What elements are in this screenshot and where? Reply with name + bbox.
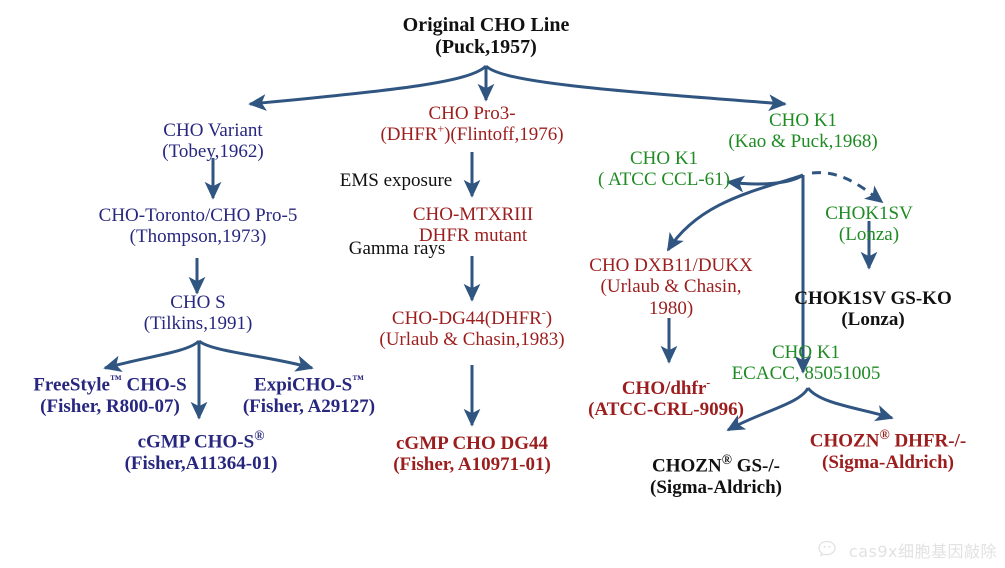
node-cho-pro3-line2: (DHFR+)(Flintoff,1976)	[348, 124, 596, 145]
node-cgmp-cho-dg44-line2: (Fisher, A10971-01)	[358, 454, 586, 475]
cho-cell-line-lineage-diagram: Original CHO Line (Puck,1957) CHO Varian…	[0, 0, 1005, 568]
node-freestyle-cho-s-line2: (Fisher, R800-07)	[6, 396, 214, 417]
node-chok1sv-gs-ko-line1: CHOK1SV GS-KO	[768, 288, 978, 309]
node-cgmp-cho-s: cGMP CHO-S® (Fisher,A11364-01)	[90, 428, 312, 474]
node-expicho-s-line2: (Fisher, A29127)	[218, 396, 400, 417]
node-cho-variant-line2: (Tobey,1962)	[133, 141, 293, 162]
node-chozn-dhfr-line2: (Sigma-Aldrich)	[775, 452, 1001, 473]
arrow-k1-to-chok1sv-dashed	[812, 173, 882, 202]
node-original-cho-line-line1: Original CHO Line	[380, 14, 592, 36]
node-original-cho-line: Original CHO Line (Puck,1957)	[380, 14, 592, 59]
node-cho-mtxriii-line1: CHO-MTXRIII	[379, 204, 567, 225]
node-cho-k1-kao-puck: CHO K1 (Kao & Puck,1968)	[698, 110, 908, 153]
node-cho-toronto-pro5-line2: (Thompson,1973)	[57, 226, 339, 247]
wechat-icon	[818, 540, 842, 560]
arrow-chos-to-freestyle	[105, 341, 199, 368]
node-cho-k1-ecacc-line2: ECACC, 85051005	[694, 363, 918, 384]
node-chok1sv-line2: (Lonza)	[812, 224, 926, 245]
node-cho-k1-ecacc: CHO K1 ECACC, 85051005	[694, 342, 918, 385]
node-cho-dhfr-line2: (ATCC-CRL-9096)	[555, 399, 777, 420]
node-cho-variant-line1: CHO Variant	[133, 120, 293, 141]
node-cho-s-line2: (Tilkins,1991)	[119, 313, 277, 334]
node-freestyle-cho-s-line1: FreeStyle™ CHO-S	[6, 373, 214, 396]
arrow-chos-to-expicho	[199, 341, 312, 368]
node-cho-dxb11-dukx-line1: CHO DXB11/DUKX	[560, 255, 782, 276]
arrow-ecacc-to-chozn-dhfr	[808, 388, 892, 418]
watermark: cas9x细胞基因敲除	[818, 538, 997, 562]
node-chozn-dhfr-line1: CHOZN® DHFR-/-	[775, 427, 1001, 452]
node-cho-pro3-line1: CHO Pro3-	[348, 103, 596, 124]
node-cho-dg44-line2: (Urlaub & Chasin,1983)	[346, 329, 598, 350]
node-cho-s: CHO S (Tilkins,1991)	[119, 292, 277, 335]
node-original-cho-line-line2: (Puck,1957)	[380, 36, 592, 58]
node-cgmp-cho-dg44: cGMP CHO DG44 (Fisher, A10971-01)	[358, 433, 586, 476]
node-chozn-gs-line2: (Sigma-Aldrich)	[617, 477, 815, 498]
node-cgmp-cho-dg44-line1: cGMP CHO DG44	[358, 433, 586, 454]
node-cho-k1-kao-puck-line1: CHO K1	[698, 110, 908, 131]
node-chozn-dhfr: CHOZN® DHFR-/- (Sigma-Aldrich)	[775, 427, 1001, 473]
node-cho-toronto-pro5-line1: CHO-Toronto/CHO Pro-5	[57, 205, 339, 226]
node-cho-k1-atcc-line1: CHO K1	[588, 148, 740, 169]
node-cgmp-cho-s-line2: (Fisher,A11364-01)	[90, 453, 312, 474]
node-ems-exposure-label: EMS exposure	[321, 170, 471, 191]
node-chok1sv-line1: CHOK1SV	[812, 203, 926, 224]
node-cho-s-line1: CHO S	[119, 292, 277, 313]
node-cho-k1-atcc: CHO K1 ( ATCC CCL-61)	[588, 148, 740, 191]
node-freestyle-cho-s: FreeStyle™ CHO-S (Fisher, R800-07)	[6, 373, 214, 417]
node-cho-dxb11-dukx: CHO DXB11/DUKX (Urlaub & Chasin, 1980)	[560, 255, 782, 319]
node-expicho-s-line1: ExpiCHO-S™	[218, 373, 400, 396]
node-cho-k1-ecacc-line1: CHO K1	[694, 342, 918, 363]
node-cho-dxb11-dukx-line2: (Urlaub & Chasin,	[560, 276, 782, 297]
node-cho-pro3: CHO Pro3- (DHFR+)(Flintoff,1976)	[348, 103, 596, 146]
watermark-text: cas9x细胞基因敲除	[849, 538, 997, 562]
arrow-root-to-cho-k1	[486, 66, 785, 104]
node-cho-dxb11-dukx-line3: 1980)	[560, 298, 782, 319]
arrow-root-to-cho-variant	[250, 66, 486, 104]
node-chok1sv: CHOK1SV (Lonza)	[812, 203, 926, 246]
node-cho-variant: CHO Variant (Tobey,1962)	[133, 120, 293, 163]
node-gamma-rays-label: Gamma rays	[330, 238, 464, 259]
node-cho-k1-atcc-line2: ( ATCC CCL-61)	[588, 169, 740, 190]
arrow-layer	[0, 0, 1005, 568]
node-ems-exposure: EMS exposure	[321, 170, 471, 191]
node-chok1sv-gs-ko: CHOK1SV GS-KO (Lonza)	[768, 288, 978, 331]
node-cho-toronto-pro5: CHO-Toronto/CHO Pro-5 (Thompson,1973)	[57, 205, 339, 248]
node-cgmp-cho-s-line1: cGMP CHO-S®	[90, 428, 312, 453]
node-expicho-s: ExpiCHO-S™ (Fisher, A29127)	[218, 373, 400, 417]
node-gamma-rays: Gamma rays	[330, 238, 464, 259]
node-chok1sv-gs-ko-line2: (Lonza)	[768, 309, 978, 330]
